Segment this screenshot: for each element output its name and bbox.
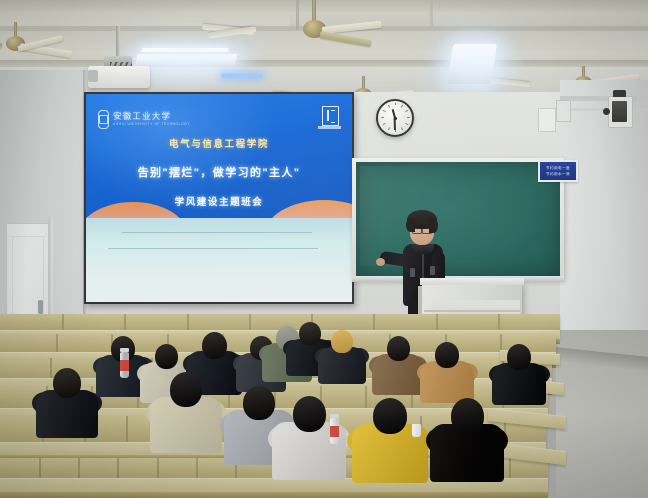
seat-divider <box>187 314 189 330</box>
audience-head <box>507 344 531 370</box>
audience-head <box>435 342 459 368</box>
seat-divider <box>62 314 64 330</box>
seat-divider <box>56 334 58 352</box>
desk-edge <box>0 492 548 498</box>
university-name: 安徽工业大学 <box>113 112 190 121</box>
ceiling-fan-2 <box>262 0 422 56</box>
wall-outlet-panel <box>556 100 571 122</box>
audience-member <box>318 330 366 385</box>
audience-head <box>53 368 81 398</box>
ceiling-seam-2 <box>430 0 433 26</box>
ceiling-light-3 <box>222 74 262 78</box>
classroom-photo: 安徽工业大学 ANHUI UNIVERSITY OF TECHNOLOGY 电气… <box>0 0 648 498</box>
right-wall-trim <box>560 96 648 101</box>
ceiling-fan-1 <box>0 22 120 66</box>
slide-rule-2 <box>108 248 318 249</box>
audience-head <box>387 336 410 361</box>
projector-mount-rod <box>116 26 120 58</box>
projector-lens <box>88 70 98 82</box>
door-handle[interactable] <box>38 300 43 314</box>
slide-university-logo: 安徽工业大学 ANHUI UNIVERSITY OF TECHNOLOGY <box>98 108 182 130</box>
seat-divider <box>117 458 119 478</box>
white-cup <box>412 424 421 437</box>
audience-head <box>202 332 227 359</box>
wall-sensor-icon <box>603 108 610 115</box>
audience-head <box>451 398 484 434</box>
audience-head <box>373 398 407 434</box>
wall-speaker-grille <box>612 101 627 122</box>
audience-head <box>331 330 353 353</box>
clock-center-pin <box>394 117 397 120</box>
audience-head <box>243 386 275 420</box>
red-label-water-bottle <box>330 418 339 444</box>
audience-member <box>430 398 504 483</box>
slide-lower-panel <box>86 218 352 302</box>
seat-divider <box>78 458 80 478</box>
slide-main-slogan: 告别"摆烂"，做学习的"主人" <box>86 164 352 180</box>
slide-subtitle: 学风建设主题班会 <box>86 194 352 208</box>
seat-divider <box>373 314 375 330</box>
slide-department-title: 电气与信息工程学院 <box>86 136 352 150</box>
water-bottle <box>120 352 129 378</box>
seat-divider <box>124 314 126 330</box>
clock-minute-hand <box>394 118 396 130</box>
audience-member <box>492 344 546 406</box>
audience-member <box>420 342 474 404</box>
seat-divider <box>509 458 511 478</box>
seat-divider <box>249 314 251 330</box>
speaker-hair-side-left <box>406 218 415 232</box>
audience-head <box>155 344 178 369</box>
seat-divider <box>157 458 159 478</box>
audience-member <box>352 398 428 485</box>
slide-corner-badge-icon <box>318 106 342 132</box>
wall-notice-sign: 节约用电一度 节约用水一滴 <box>538 160 578 182</box>
wall-fixture <box>538 108 556 132</box>
audience-member <box>150 372 222 455</box>
seat-divider <box>498 314 500 330</box>
seat-divider <box>126 416 128 442</box>
audience-member <box>36 368 98 439</box>
speaker-hair-side-right <box>429 218 438 233</box>
projection-screen: 安徽工业大学 ANHUI UNIVERSITY OF TECHNOLOGY 电气… <box>86 94 352 302</box>
wall-speaker-top <box>613 90 626 97</box>
sign-line-2: 节约用水一滴 <box>546 172 570 177</box>
lectern-top <box>420 278 524 285</box>
university-name-en: ANHUI UNIVERSITY OF TECHNOLOGY <box>113 123 190 126</box>
jacket-detail-1 <box>410 268 415 277</box>
audience-member <box>372 336 424 396</box>
seat-divider <box>196 458 198 478</box>
university-emblem-icon <box>98 110 109 129</box>
audience-head <box>170 372 202 407</box>
sign-line-1: 节约用电一度 <box>546 166 570 171</box>
speaker-hand <box>376 258 385 266</box>
jacket-detail-2 <box>430 266 435 275</box>
seat-divider <box>39 458 41 478</box>
lectern-seam <box>424 310 520 312</box>
seat-divider <box>436 314 438 330</box>
audience-head <box>293 396 326 432</box>
slide-rule-1 <box>122 232 312 233</box>
wall-clock <box>376 99 414 137</box>
